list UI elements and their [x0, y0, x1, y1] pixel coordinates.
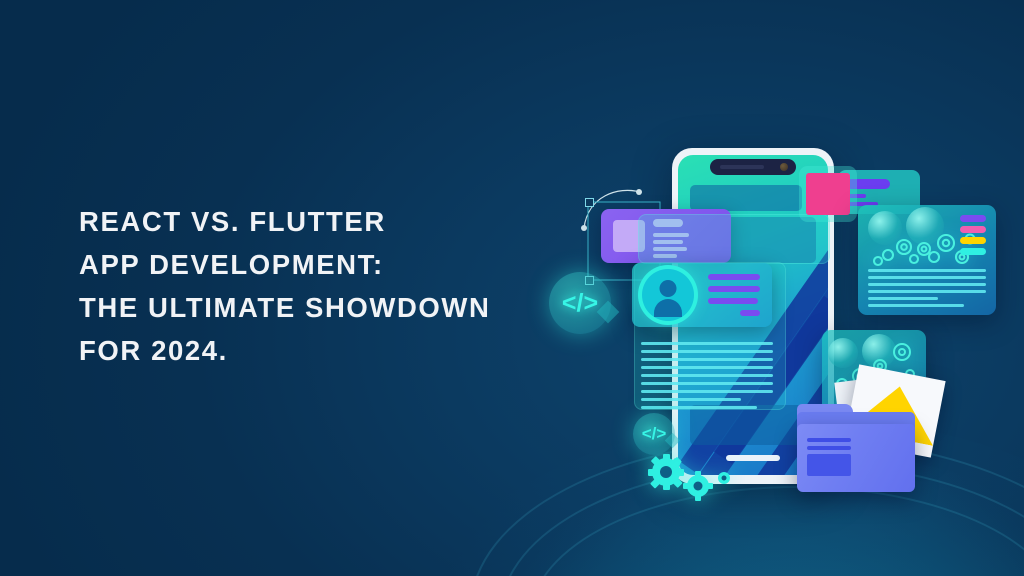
profile-text-line	[740, 310, 760, 316]
media-swatch	[806, 173, 850, 215]
path-anchor-top	[585, 198, 594, 207]
profile-text-line	[708, 286, 760, 292]
profile-text-line	[708, 298, 758, 304]
path-handle-dot	[581, 225, 587, 231]
poster-canvas: REACT VS. FLUTTER APP DEVELOPMENT: THE U…	[0, 0, 1024, 576]
gear-cluster	[636, 452, 746, 514]
folder-label-line	[807, 446, 851, 450]
file-folder	[797, 424, 915, 492]
tag-pink	[960, 226, 986, 233]
folder-label-line	[807, 438, 851, 442]
avatar	[642, 269, 694, 321]
code-icon: </>	[633, 413, 675, 455]
settings-card-upper	[858, 205, 996, 315]
glass-overlay-panel	[638, 214, 830, 264]
path-handle-dot	[636, 189, 642, 195]
tag-cyan	[960, 248, 986, 255]
profile-text-line	[708, 274, 760, 280]
app-development-illustration: </> </>	[0, 0, 1024, 576]
tag-purple	[960, 215, 986, 222]
speaker-slot	[720, 165, 764, 169]
screen-block-1	[690, 185, 802, 211]
tag-yellow	[960, 237, 986, 244]
media-card-title-bar	[846, 179, 890, 189]
code-bubble-bottom: </>	[633, 413, 675, 455]
avatar-head	[660, 280, 677, 297]
folder-label-box	[807, 454, 851, 476]
phone-notch	[710, 159, 796, 175]
avatar-body	[654, 299, 682, 317]
code-bubble-left: </>	[549, 272, 611, 334]
code-icon: </>	[549, 272, 611, 334]
user-profile-card	[632, 263, 772, 327]
front-camera-icon	[780, 163, 788, 171]
